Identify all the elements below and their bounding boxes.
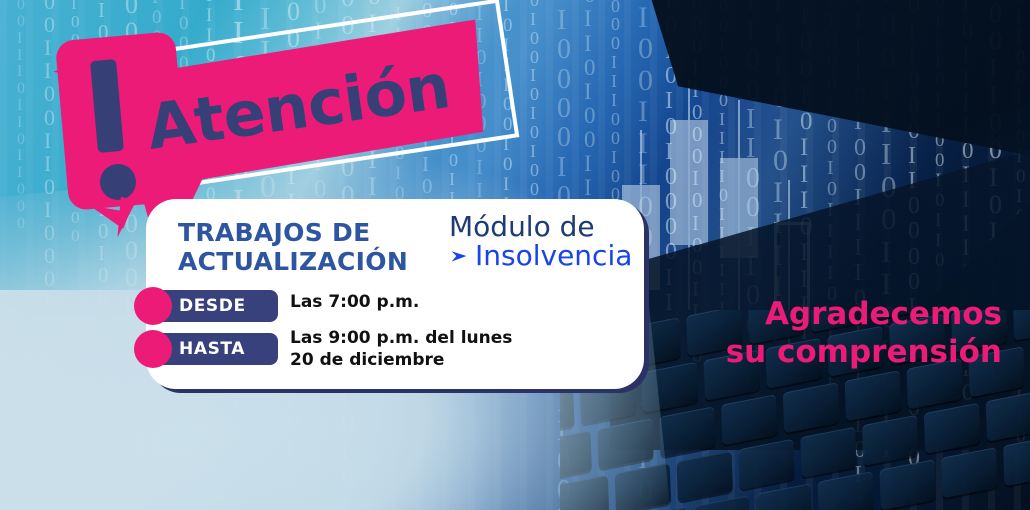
card-title-line1: TRABAJOS DE <box>178 219 408 248</box>
label-to: HASTA <box>179 339 245 359</box>
attention-banner: 00I00II0IIIII0II00I00III0II0II000000II00… <box>0 0 1030 510</box>
thank-you-line2: su comprensión <box>672 334 1002 372</box>
modulo-insolvencia-logo: Módulo de Insolvencia <box>449 213 624 270</box>
schedule-row-from: DESDE <box>134 287 278 325</box>
logo-bottom-row: Insolvencia <box>449 242 624 270</box>
logo-text-top: Módulo de <box>449 213 624 241</box>
thank-you-message: Agradecemos su comprensión <box>672 296 1002 372</box>
schedule-row-to: HASTA <box>134 330 278 368</box>
card-title: TRABAJOS DE ACTUALIZACIÓN <box>178 219 408 276</box>
label-from: DESDE <box>179 296 246 316</box>
thank-you-line1: Agradecemos <box>672 296 1002 334</box>
bullet-dot-icon <box>134 287 172 325</box>
card-title-line2: ACTUALIZACIÓN <box>178 248 408 277</box>
bullet-dot-icon <box>134 330 172 368</box>
value-to: Las 9:00 p.m. del lunes 20 de diciembre <box>290 327 512 371</box>
info-card: TRABAJOS DE ACTUALIZACIÓN Módulo de Inso… <box>146 199 644 389</box>
exclamation-dot-icon <box>100 164 136 200</box>
chevron-right-arrow-icon <box>449 245 471 267</box>
logo-text-bottom: Insolvencia <box>475 242 632 270</box>
value-from: Las 7:00 p.m. <box>290 291 419 313</box>
